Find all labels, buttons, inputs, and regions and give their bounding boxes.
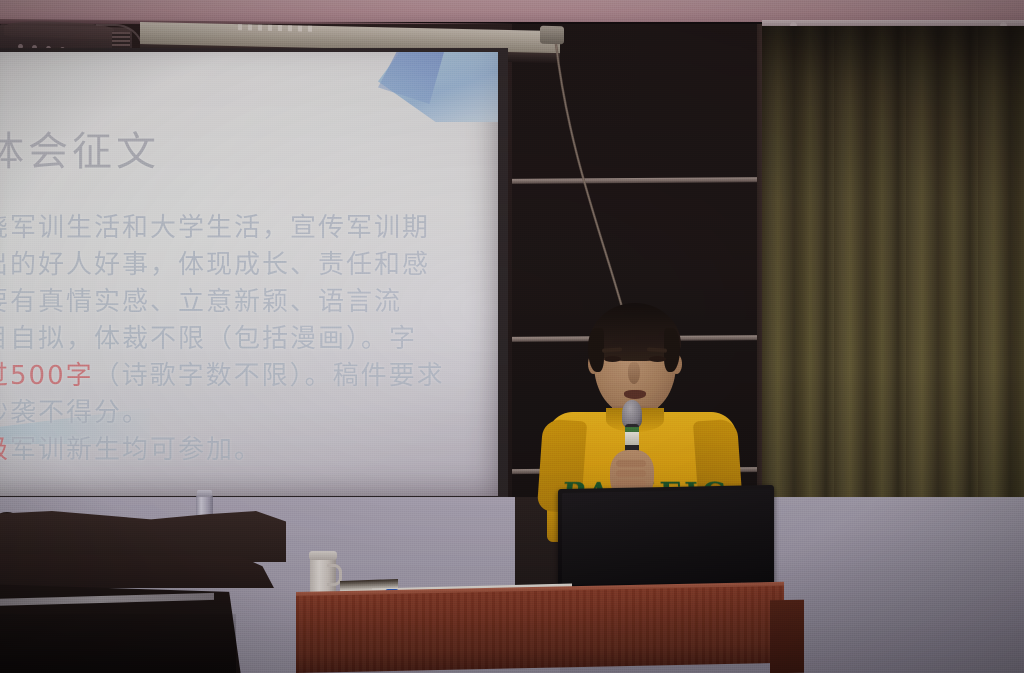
finger <box>616 460 646 467</box>
slide-line: 绕军训生活和大学生活，宣传军训期 <box>0 210 498 247</box>
thermos-lid <box>309 551 337 560</box>
slide-line: 过500字（诗歌字数不限）。稿件要求 <box>0 358 498 395</box>
water-bottle-cap <box>197 490 212 497</box>
slide-body: 绕军训生活和大学生活，宣传军训期出的好人好事，体现成长、责任和感要有真情实感、立… <box>0 210 498 469</box>
slide-title: 体会征文 <box>0 130 160 174</box>
lecture-hall-photo: 体会征文 绕军训生活和大学生活，宣传军训期出的好人好事，体现成长、责任和感要有真… <box>0 0 1024 673</box>
roller-end-cap <box>540 26 564 45</box>
wooden-podium <box>296 586 784 673</box>
slide-line: 要有真情实感、立意新颖、语言流 <box>0 284 498 321</box>
slide-text-segment: 要有真情实感、立意新颖、语言流 <box>0 287 402 317</box>
wooden-lectern <box>0 510 286 673</box>
eye-right <box>649 356 666 362</box>
projection-screen: 体会征文 绕军训生活和大学生活，宣传军训期出的好人好事，体现成长、责任和感要有真… <box>0 52 498 496</box>
slide-text-segment: 军训新生均可参加。 <box>10 435 262 465</box>
lectern-body <box>0 554 274 588</box>
monitor-back-panel <box>562 489 770 585</box>
slide-line: 目自拟，体裁不限（包括漫画）。字 <box>0 321 498 358</box>
slide-text-segment: 绕军训生活和大学生活，宣传军训期 <box>0 213 430 243</box>
podium-side-panel <box>770 600 804 673</box>
slide-text-segment: 抄袭不得分。 <box>0 398 150 428</box>
lectern-shadow <box>0 614 236 673</box>
slide-text-segment: 出的好人好事，体现成长、责任和感 <box>0 250 430 280</box>
mouth <box>624 390 646 399</box>
slide-line: 出的好人好事，体现成长、责任和感 <box>0 247 498 284</box>
finger <box>616 480 646 487</box>
slide-text-segment: 级 <box>0 435 10 465</box>
slide-line: 抄袭不得分。 <box>0 395 498 432</box>
nose <box>628 362 640 384</box>
finger <box>616 470 646 477</box>
microphone-light-band <box>625 432 639 445</box>
lectern-top <box>0 510 286 562</box>
slide-text-segment: 过500字 <box>0 361 94 391</box>
eye-left <box>604 356 621 362</box>
slide-line: 级军训新生均可参加。 <box>0 432 498 469</box>
slide-text-segment: 目自拟，体裁不限（包括漫画）。字 <box>0 324 417 354</box>
slide-text-segment: （诗歌字数不限）。稿件要求 <box>94 361 445 391</box>
ceiling <box>0 0 1024 22</box>
